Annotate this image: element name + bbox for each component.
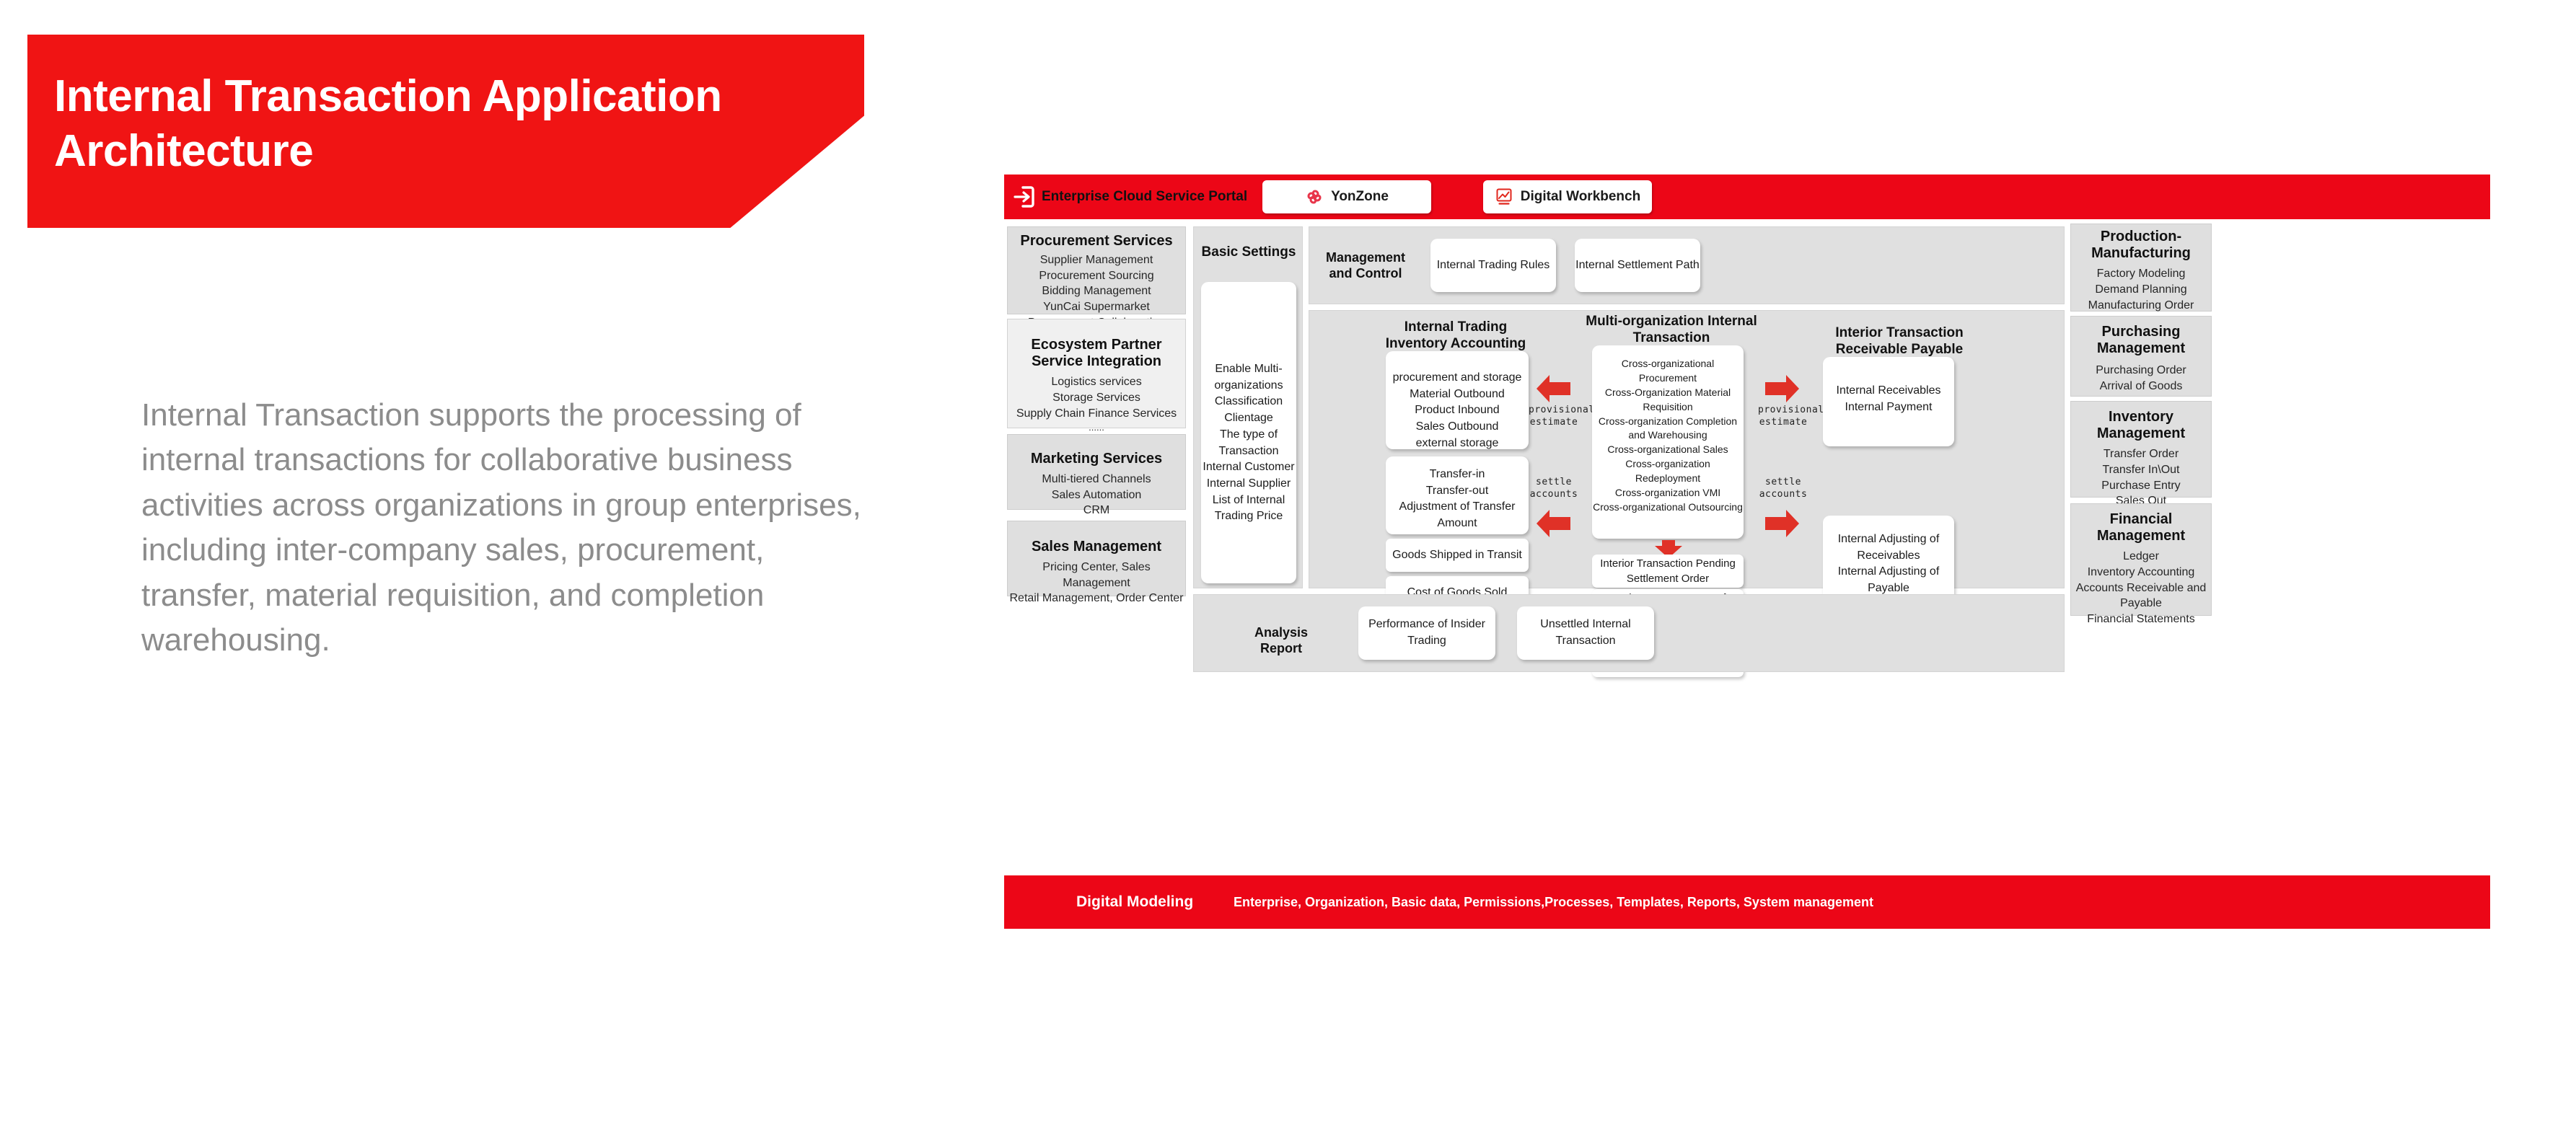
chip-digital-workbench-label: Digital Workbench xyxy=(1521,189,1640,205)
arrow-left-provisional-estimate-icon xyxy=(1536,374,1570,407)
box-pending-settlement-order[interactable]: Interior Transaction Pending Settlement … xyxy=(1592,555,1744,588)
list-item: Pricing Center, Sales Management xyxy=(1008,560,1185,591)
box-text: Internal Receivables Internal Payment xyxy=(1823,383,1954,415)
list-item: Sales Automation xyxy=(1008,487,1185,503)
box-internal-adjusting[interactable]: Internal Adjusting of Receivables Intern… xyxy=(1823,516,1954,605)
list-item: Inventory Accounting xyxy=(2071,565,2211,580)
lead-paragraph: Internal Transaction supports the proces… xyxy=(141,393,877,663)
architecture-diagram: Enterprise Cloud Service Portal YonZone xyxy=(1004,175,2490,929)
box-text: Interior Transaction Pending Settlement … xyxy=(1592,556,1744,587)
multi-org-title: Multi-organization Internal Transaction xyxy=(1563,314,1780,347)
panel-production-manufacturing[interactable]: Production-Manufacturing Factory Modelin… xyxy=(2070,224,2212,312)
arrow-left-settle-accounts-icon xyxy=(1536,509,1570,542)
panel-transaction-core: Internal Trading Inventory Accounting Mu… xyxy=(1309,310,2065,588)
digital-modeling-items: Enterprise, Organization, Basic data, Pe… xyxy=(1234,895,1873,910)
list-item: Multi-tiered Channels xyxy=(1008,472,1185,487)
list-item: Ledger xyxy=(2071,549,2211,565)
box-text: procurement and storage Material Outboun… xyxy=(1386,370,1529,452)
portal-label: Enterprise Cloud Service Portal xyxy=(1042,189,1247,205)
panel-title: Marketing Services xyxy=(1008,451,1185,467)
list-item: Accounts Receivable and Payable xyxy=(2071,580,2211,611)
list-item: Transfer Order xyxy=(2071,446,2211,462)
chip-yonzone-label: YonZone xyxy=(1331,189,1389,205)
list-item: Supply Chain Finance Services xyxy=(1008,406,1185,422)
digital-workbench-icon xyxy=(1495,187,1513,206)
label-provisional-estimate-right: provisional estimate xyxy=(1758,405,1808,429)
list-item: Demand Planning xyxy=(2071,282,2211,298)
panel-sales-management[interactable]: Sales Management Pricing Center, Sales M… xyxy=(1007,521,1186,596)
list-item: Bidding Management xyxy=(1008,283,1185,299)
box-text: Internal Adjusting of Receivables Intern… xyxy=(1823,531,1954,597)
chip-digital-workbench[interactable]: Digital Workbench xyxy=(1483,180,1652,213)
box-performance-of-insider-trading[interactable]: Performance of Insider Trading xyxy=(1358,606,1495,660)
list-item: Internal Customer xyxy=(1201,459,1296,476)
top-red-band: Enterprise Cloud Service Portal YonZone xyxy=(1004,175,2490,219)
label-settle-accounts-right: settle accounts xyxy=(1758,477,1808,501)
list-item: List of Internal Trading Price xyxy=(1201,493,1296,525)
panel-inventory-management[interactable]: Inventory Management Transfer Order Tran… xyxy=(2070,401,2212,498)
list-item: Manufacturing Order xyxy=(2071,298,2211,314)
list-item: Financial Statements xyxy=(2071,611,2211,627)
panel-title: Financial Management xyxy=(2071,511,2211,544)
enter-portal-icon xyxy=(1013,185,1034,208)
box-inventory-operations[interactable]: procurement and storage Material Outboun… xyxy=(1386,351,1529,449)
title-banner: Internal Transaction Application Archite… xyxy=(27,35,864,228)
list-item: Arrival of Goods xyxy=(2071,379,2211,394)
panel-financial-management[interactable]: Financial Management Ledger Inventory Ac… xyxy=(2070,503,2212,616)
analysis-report-title: Analysis Report xyxy=(1234,625,1328,656)
panel-marketing-services[interactable]: Marketing Services Multi-tiered Channels… xyxy=(1007,434,1186,510)
panel-analysis-report[interactable]: Analysis Report Performance of Insider T… xyxy=(1193,594,2065,672)
box-internal-settlement-path[interactable]: Internal Settlement Path xyxy=(1575,239,1700,292)
box-text: Cross-organizational Procurement Cross-O… xyxy=(1592,357,1744,515)
box-internal-receivables-payment[interactable]: Internal Receivables Internal Payment xyxy=(1823,357,1954,446)
list-item: Classification xyxy=(1201,394,1296,410)
panel-management-control[interactable]: Management and Control Internal Trading … xyxy=(1309,226,2065,304)
panel-basic-settings[interactable]: Basic Settings Enable Multi-organization… xyxy=(1193,226,1303,588)
box-transfer-ops[interactable]: Transfer-in Transfer-out Adjustment of T… xyxy=(1386,456,1529,534)
slide-canvas: Internal Transaction Application Archite… xyxy=(0,0,2576,1135)
enterprise-cloud-service-portal[interactable]: Enterprise Cloud Service Portal xyxy=(1013,185,1247,208)
label-settle-accounts-left: settle accounts xyxy=(1529,477,1579,501)
chip-yonzone[interactable]: YonZone xyxy=(1262,180,1431,213)
list-item: CRM xyxy=(1008,503,1185,518)
box-internal-trading-rules[interactable]: Internal Trading Rules xyxy=(1430,239,1556,292)
yonzone-clover-icon xyxy=(1305,187,1324,206)
list-item: Purchasing Order xyxy=(2071,363,2211,379)
digital-modeling-label: Digital Modeling xyxy=(1076,893,1193,911)
list-item: Retail Management, Order Center xyxy=(1008,591,1185,606)
list-item: Clientage xyxy=(1201,410,1296,427)
list-item: ...... xyxy=(1008,421,1185,434)
bottom-red-band: Digital Modeling Enterprise, Organizatio… xyxy=(1004,875,2490,929)
panel-ecosystem-partner[interactable]: Ecosystem Partner Service Integration Lo… xyxy=(1007,319,1186,428)
list-item: Enable Multi-organizations xyxy=(1201,361,1296,394)
panel-purchasing-management[interactable]: Purchasing Management Purchasing Order A… xyxy=(2070,316,2212,397)
panel-title: Inventory Management xyxy=(2071,409,2211,442)
panel-title: Sales Management xyxy=(1008,539,1185,555)
box-unsettled-internal-transaction[interactable]: Unsettled Internal Transaction xyxy=(1517,606,1654,660)
arrow-right-provisional-estimate-icon xyxy=(1765,374,1800,407)
receivable-payable-title: Interior Transaction Receivable Payable xyxy=(1814,325,1984,358)
panel-title: Ecosystem Partner Service Integration xyxy=(1008,337,1185,370)
management-control-title: Management and Control xyxy=(1319,250,1412,281)
basic-settings-card[interactable]: Enable Multi-organizations Classificatio… xyxy=(1201,282,1296,583)
list-item: Internal Supplier xyxy=(1201,476,1296,493)
basic-settings-title: Basic Settings xyxy=(1194,244,1304,261)
list-item: The type of Transaction xyxy=(1201,427,1296,459)
list-item: Supplier Management xyxy=(1008,252,1185,268)
panel-title: Purchasing Management xyxy=(2071,324,2211,357)
box-cross-organization-scenarios[interactable]: Cross-organizational Procurement Cross-O… xyxy=(1592,345,1744,539)
panel-procurement-services[interactable]: Procurement Services Supplier Management… xyxy=(1007,226,1186,314)
list-item: Purchase Entry xyxy=(2071,478,2211,494)
label-provisional-estimate-left: provisional estimate xyxy=(1529,405,1579,429)
list-item: Logistics services xyxy=(1008,374,1185,390)
page-title: Internal Transaction Application Archite… xyxy=(54,69,775,178)
arrow-right-settle-accounts-icon xyxy=(1765,509,1800,542)
box-goods-shipped-in-transit[interactable]: Goods Shipped in Transit xyxy=(1386,539,1529,572)
list-item: Procurement Sourcing xyxy=(1008,268,1185,284)
list-item: YunCai Supermarket xyxy=(1008,299,1185,315)
list-item: Storage Services xyxy=(1008,390,1185,406)
inventory-accounting-title: Internal Trading Inventory Accounting xyxy=(1380,319,1531,353)
panel-title: Procurement Services xyxy=(1008,233,1185,249)
panel-title: Production-Manufacturing xyxy=(2071,229,2211,262)
list-item: Factory Modeling xyxy=(2071,266,2211,282)
box-text: Transfer-in Transfer-out Adjustment of T… xyxy=(1386,467,1529,532)
list-item: Transfer In\Out xyxy=(2071,462,2211,478)
